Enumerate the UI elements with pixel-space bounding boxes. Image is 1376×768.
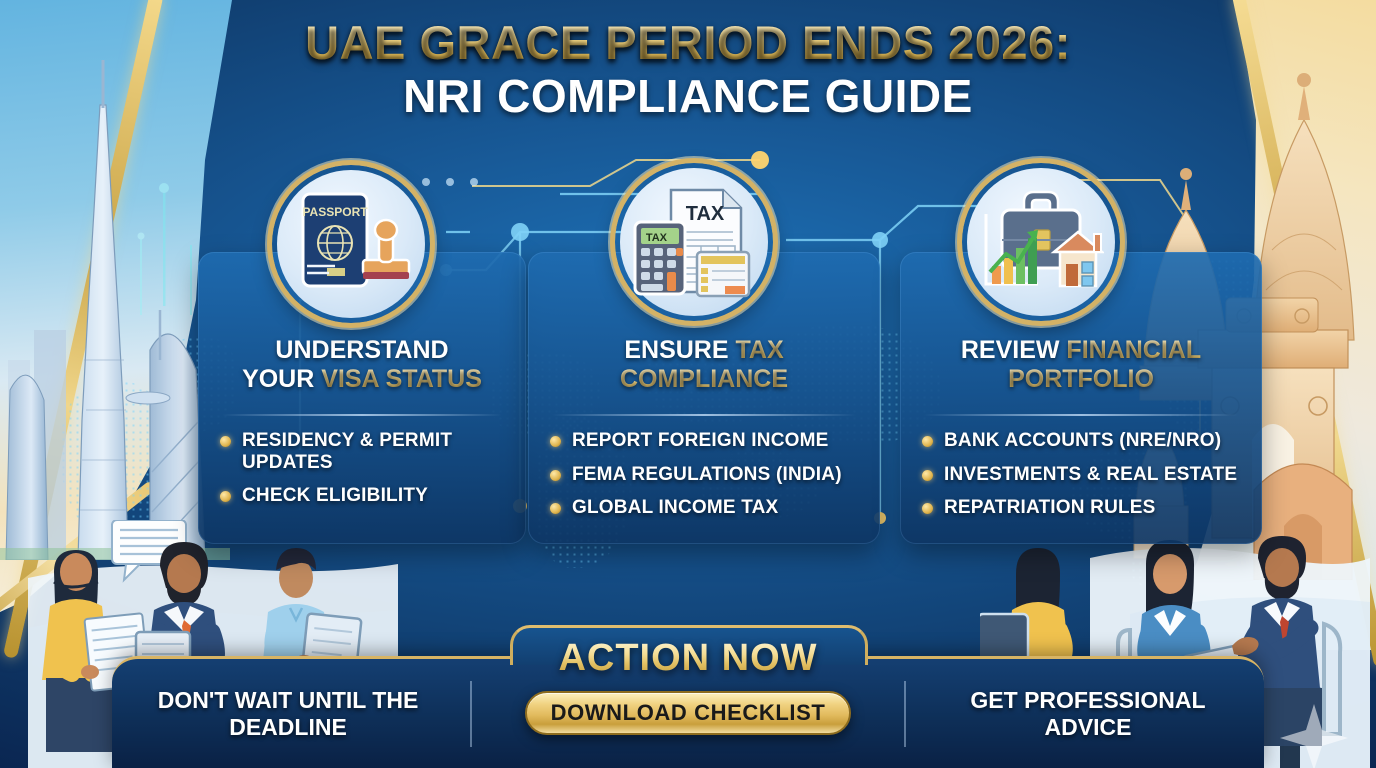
bullet-dot-icon — [550, 436, 561, 447]
header: UAE GRACE PERIOD ENDS 2026: NRI COMPLIAN… — [0, 18, 1376, 122]
list-item: FEMA REGULATIONS (INDIA) — [550, 464, 866, 486]
bullet-dot-icon — [550, 503, 561, 514]
list-item: RESIDENCY & PERMIT UPDATES — [220, 430, 512, 473]
bullet-dot-icon — [922, 436, 933, 447]
briefcase-chart-house-icon[interactable] — [962, 163, 1120, 321]
list-item: BANK ACCOUNTS (NRE/NRO) — [922, 430, 1248, 452]
bullet-dot-icon — [220, 491, 231, 502]
footer-right-text: GET PROFESSIONAL ADVICE — [938, 687, 1238, 741]
footer-headline: ACTION NOW — [112, 637, 1264, 680]
bullet-dot-icon — [550, 470, 561, 481]
page-title-line1: UAE GRACE PERIOD ENDS 2026: — [0, 18, 1376, 69]
footer-divider-right — [904, 681, 906, 747]
passport-label: PASSPORT — [302, 205, 368, 219]
card-title-3: REVIEW FINANCIAL PORTFOLIO — [900, 336, 1262, 393]
bullet-dot-icon — [922, 503, 933, 514]
page-title-line2: NRI COMPLIANCE GUIDE — [0, 71, 1376, 123]
card-bullets-2: REPORT FOREIGN INCOME FEMA REGULATIONS (… — [550, 430, 866, 531]
download-checklist-button[interactable]: DOWNLOAD CHECKLIST — [525, 691, 851, 735]
footer-divider-left — [470, 681, 472, 747]
bullet-dot-icon — [220, 436, 231, 447]
list-item: INVESTMENTS & REAL ESTATE — [922, 464, 1248, 486]
footer-left-text: DON'T WAIT UNTIL THE DEADLINE — [138, 687, 438, 741]
list-item: REPATRIATION RULES — [922, 497, 1248, 519]
card-divider — [222, 414, 502, 416]
list-item: REPORT FOREIGN INCOME — [550, 430, 866, 452]
infographic-canvas: UAE GRACE PERIOD ENDS 2026: NRI COMPLIAN… — [0, 0, 1376, 768]
calculator-display: TAX — [646, 232, 668, 244]
list-item: GLOBAL INCOME TAX — [550, 497, 866, 519]
card-divider — [924, 414, 1238, 416]
card-title-2: ENSURE TAX COMPLIANCE — [528, 336, 880, 393]
bullet-dot-icon — [922, 470, 933, 481]
list-item: CHECK ELIGIBILITY — [220, 485, 512, 507]
tax-label: TAX — [686, 203, 725, 225]
card-divider — [552, 414, 856, 416]
tax-document-calculator-icon[interactable]: TAX TAX — [615, 163, 773, 321]
footer-action-bar: DON'T WAIT UNTIL THE DEADLINE ACTION NOW… — [112, 656, 1264, 768]
card-bullets-3: BANK ACCOUNTS (NRE/NRO) INVESTMENTS & RE… — [922, 430, 1248, 531]
passport-stamp-icon[interactable]: PASSPORT — [272, 165, 430, 323]
card-bullets-1: RESIDENCY & PERMIT UPDATES CHECK ELIGIBI… — [220, 430, 512, 519]
card-title-1: UNDERSTAND YOUR VISA STATUS — [198, 336, 526, 393]
